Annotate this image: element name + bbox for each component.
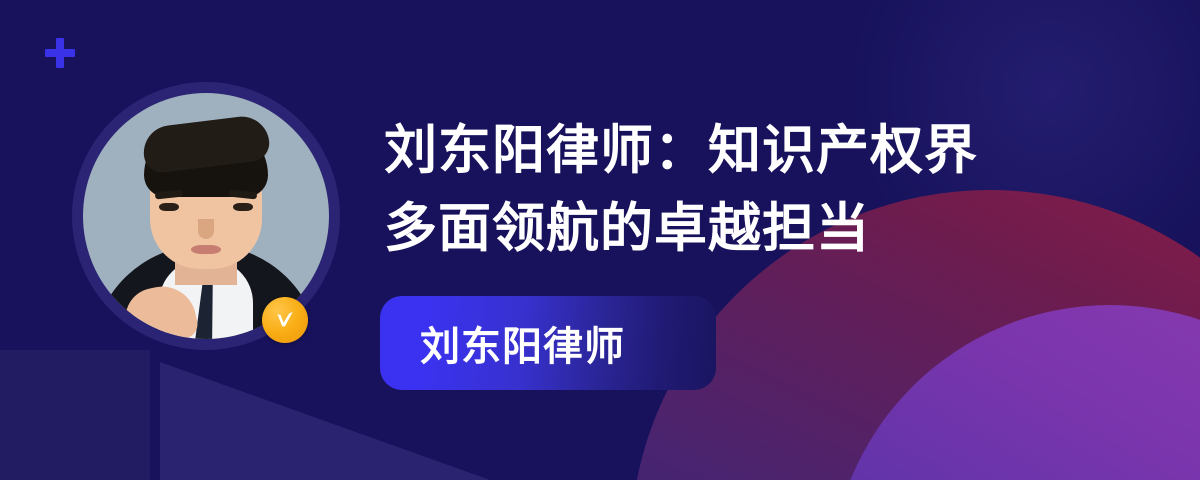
- avatar: [72, 82, 340, 350]
- verified-badge-icon: [262, 297, 308, 343]
- article-hero-banner: 刘东阳律师：知识产权界 多面领航的卓越担当 刘东阳律师: [0, 0, 1200, 480]
- author-name-pill[interactable]: 刘东阳律师: [380, 296, 716, 390]
- headline-line-1: 刘东阳律师：知识产权界: [384, 112, 1124, 190]
- plus-icon: [45, 38, 75, 68]
- headline-block: 刘东阳律师：知识产权界 多面领航的卓越担当: [384, 112, 1124, 268]
- band-left-decoration: [0, 350, 150, 480]
- headline-line-2: 多面领航的卓越担当: [384, 190, 1124, 268]
- author-name-label: 刘东阳律师: [420, 314, 625, 372]
